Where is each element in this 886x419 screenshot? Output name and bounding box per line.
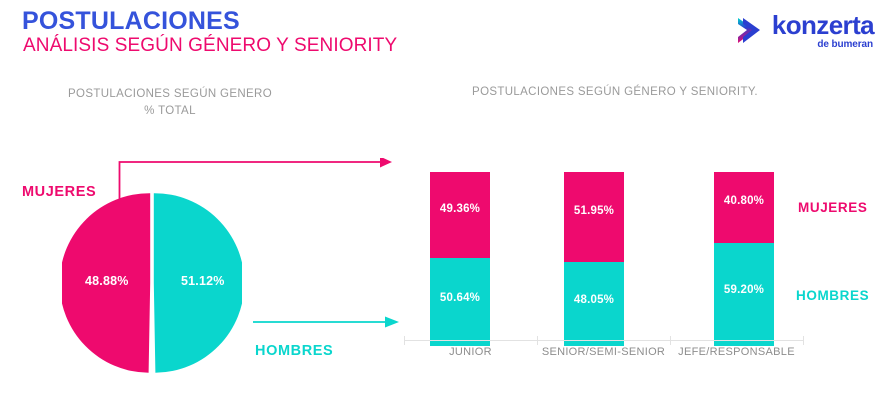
pie-label-mujeres: MUJERES: [22, 184, 96, 200]
axis-label-senior-semi-senior: SENIOR/SEMI-SENIOR: [537, 346, 670, 358]
bar-group-junior: 49.36% 50.64%: [430, 172, 490, 346]
bar-group-senior-semi-senior: 51.95% 48.05%: [564, 172, 624, 346]
slide-canvas: POSTULACIONES ANÁLISIS SEGÚN GÉNERO Y SE…: [0, 0, 886, 419]
pie-caption-line-2: % TOTAL: [0, 103, 340, 120]
axis-label-junior: JUNIOR: [404, 346, 537, 358]
logo-text: konzerta de bumeran: [772, 12, 874, 50]
axis-tick-0: [404, 336, 405, 345]
pie-label-hombres: HOMBRES: [255, 343, 333, 359]
axis-tick-1: [537, 336, 538, 345]
chevron-right-icon: [735, 15, 765, 47]
axis-label-jefe-responsable: JEFE/RESPONSABLE: [670, 346, 803, 358]
axis-tick-3: [803, 336, 804, 345]
bar-segment-hombres-senior: 48.05%: [564, 262, 624, 346]
bar-segment-hombres-junior: 50.64%: [430, 258, 490, 346]
bar-segment-mujeres-junior: 49.36%: [430, 172, 490, 258]
bar-chart-caption: POSTULACIONES SEGÚN GÉNERO Y SENIORITY.: [380, 86, 850, 98]
legend-item-hombres: HOMBRES: [796, 288, 869, 303]
bar-segment-mujeres-jefe: 40.80%: [714, 172, 774, 243]
page-subtitle: ANÁLISIS SEGÚN GÉNERO Y SENIORITY: [23, 36, 397, 56]
bar-value-mujeres-junior: 49.36%: [440, 203, 480, 215]
logo-tagline: de bumeran: [817, 40, 873, 50]
seniority-stacked-bar-chart: 49.36% 50.64% 51.95% 48.05% 40.80% 59.20…: [404, 166, 804, 346]
bar-value-hombres-senior: 48.05%: [574, 294, 614, 306]
bar-value-hombres-junior: 50.64%: [440, 292, 480, 304]
page-title: POSTULACIONES: [22, 8, 240, 34]
pie-caption-line-1: POSTULACIONES SEGÚN GENERO: [0, 86, 340, 103]
pie-value-hombres: 51.12%: [181, 274, 225, 288]
bar-chart-axis-line: [404, 340, 804, 341]
bar-segment-hombres-jefe: 59.20%: [714, 243, 774, 346]
bar-value-mujeres-senior: 51.95%: [574, 205, 614, 217]
bar-value-hombres-jefe: 59.20%: [724, 284, 764, 296]
logo-wordmark: konzerta: [772, 12, 874, 38]
axis-tick-2: [670, 336, 671, 345]
brand-logo: konzerta de bumeran: [735, 12, 874, 50]
connector-arrow-hombres: [253, 312, 403, 332]
pie-value-mujeres: 48.88%: [85, 274, 129, 288]
legend-item-mujeres: MUJERES: [798, 200, 867, 215]
pie-chart-caption: POSTULACIONES SEGÚN GENERO % TOTAL: [0, 86, 340, 120]
bar-group-jefe-responsable: 40.80% 59.20%: [714, 172, 774, 346]
bar-value-mujeres-jefe: 40.80%: [724, 195, 764, 207]
bar-segment-mujeres-senior: 51.95%: [564, 172, 624, 262]
